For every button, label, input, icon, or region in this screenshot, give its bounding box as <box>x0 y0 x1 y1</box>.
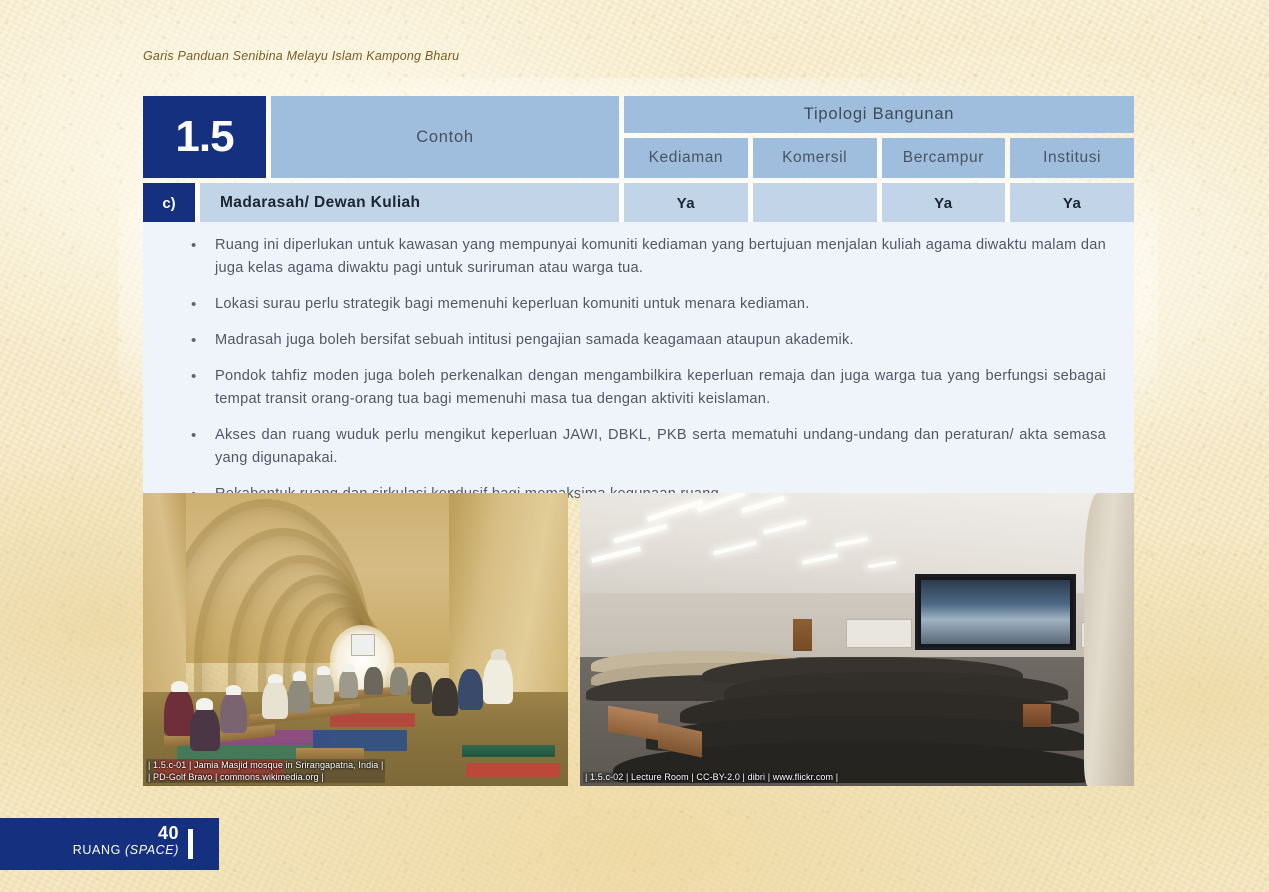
answer-kediaman: Ya <box>624 183 748 223</box>
typology-column-bercampur: Bercampur <box>882 138 1006 178</box>
lecture-room-photo: | 1.5.c-02 | Lecture Room | CC-BY-2.0 | … <box>580 493 1134 786</box>
door <box>793 619 811 651</box>
document-header-title: Garis Panduan Senibina Melayu Islam Kamp… <box>143 49 459 63</box>
projected-image <box>921 580 1070 644</box>
floor-mat-red-2 <box>330 713 415 728</box>
student-9 <box>390 667 409 695</box>
bullet-icon: • <box>191 365 215 411</box>
list-item-text: Akses dan ruang wuduk perlu mengikut kep… <box>215 424 1124 470</box>
photo-caption-line-1: | 1.5.c-01 | Jamia Masjid mosque in Srir… <box>148 759 383 771</box>
desk-front-right <box>1023 704 1051 727</box>
teacher <box>483 657 513 704</box>
photo-caption: | 1.5.c-01 | Jamia Masjid mosque in Srir… <box>146 759 385 783</box>
madrasah-photo: | 1.5.c-01 | Jamia Masjid mosque in Srir… <box>143 493 568 786</box>
list-item-text: Madrasah juga boleh bersifat sebuah inti… <box>215 329 1124 352</box>
student-6 <box>313 672 334 704</box>
example-header-cell: Contoh <box>271 96 619 178</box>
photo-caption-line-2: | PD-Golf Bravo | commons.wikimedia.org … <box>148 771 383 783</box>
typology-header-block: Tipologi Bangunan Kediaman Komersil Berc… <box>624 96 1134 178</box>
typology-column-headers: Kediaman Komersil Bercampur Institusi <box>624 138 1134 178</box>
list-item-text: Lokasi surau perlu strategik bagi memenu… <box>215 293 1124 316</box>
footer-section-label: RUANG (SPACE) <box>73 843 179 858</box>
photo-caption: | 1.5.c-02 | Lecture Room | CC-BY-2.0 | … <box>583 772 840 784</box>
student-11 <box>432 678 458 716</box>
footer-section-translation: (SPACE) <box>125 843 179 857</box>
list-item: • Ruang ini diperlukan untuk kawasan yan… <box>191 234 1124 280</box>
whiteboard-left <box>846 619 912 648</box>
bullet-icon: • <box>191 293 215 316</box>
projection-screen <box>915 574 1076 650</box>
list-item: • Akses dan ruang wuduk perlu mengikut k… <box>191 424 1124 470</box>
bullet-icon: • <box>191 424 215 470</box>
list-item-text: Pondok tahfiz moden juga boleh perkenalk… <box>215 365 1124 411</box>
green-bench <box>462 745 556 757</box>
page-number: 40 <box>73 824 179 843</box>
item-title-cell: Madarasah/ Dewan Kuliah <box>200 183 619 223</box>
far-window <box>351 634 374 657</box>
section-number-cell: 1.5 <box>143 96 266 178</box>
student-cap-1 <box>171 681 188 693</box>
student-12 <box>458 669 484 710</box>
student-cap-2 <box>196 698 213 710</box>
typology-answer-cells: Ya Ya Ya <box>624 183 1134 223</box>
list-item-text: Ruang ini diperlukan untuk kawasan yang … <box>215 234 1124 280</box>
specification-table: 1.5 Contoh Tipologi Bangunan Kediaman Ko… <box>143 96 1134 223</box>
student-cap-4 <box>268 674 282 684</box>
bullet-icon: • <box>191 329 215 352</box>
photo-caption-line-1: | 1.5.c-02 | Lecture Room | CC-BY-2.0 | … <box>585 772 838 784</box>
student-3 <box>220 692 248 733</box>
answer-bercampur: Ya <box>882 183 1006 223</box>
student-10 <box>411 672 432 704</box>
typology-column-komersil: Komersil <box>753 138 877 178</box>
floor-mat-red-3 <box>466 763 560 778</box>
student-cap-5 <box>293 671 307 680</box>
side-column <box>1084 493 1134 786</box>
list-item: • Pondok tahfiz moden juga boleh perkena… <box>191 365 1124 411</box>
student-cap-6 <box>317 666 330 675</box>
item-letter-badge: c) <box>143 183 195 223</box>
table-header-row: 1.5 Contoh Tipologi Bangunan Kediaman Ko… <box>143 96 1134 178</box>
list-item: • Lokasi surau perlu strategik bagi meme… <box>191 293 1124 316</box>
student-cap-3 <box>226 685 241 695</box>
teacher-cap <box>491 649 506 660</box>
low-desk-foreground <box>296 748 364 760</box>
bullet-icon: • <box>191 234 215 280</box>
typology-title-cell: Tipologi Bangunan <box>624 96 1134 133</box>
answer-institusi: Ya <box>1010 183 1134 223</box>
typology-column-kediaman: Kediaman <box>624 138 748 178</box>
student-4 <box>262 681 288 719</box>
table-item-row: c) Madarasah/ Dewan Kuliah Ya Ya Ya <box>143 183 1134 223</box>
student-8 <box>364 667 383 695</box>
student-5 <box>288 678 311 713</box>
typology-column-institusi: Institusi <box>1010 138 1134 178</box>
footer-divider-tick <box>188 829 193 859</box>
footer-section-name: RUANG <box>73 843 121 857</box>
notes-panel: • Ruang ini diperlukan untuk kawasan yan… <box>143 222 1134 493</box>
student-2 <box>190 707 220 751</box>
footer-content: 40 RUANG (SPACE) <box>73 824 179 858</box>
answer-komersil <box>753 183 877 223</box>
list-item: • Madrasah juga boleh bersifat sebuah in… <box>191 329 1124 352</box>
student-cap-7 <box>343 664 355 672</box>
footer-bar: 40 RUANG (SPACE) <box>0 818 219 870</box>
student-7 <box>339 669 359 698</box>
